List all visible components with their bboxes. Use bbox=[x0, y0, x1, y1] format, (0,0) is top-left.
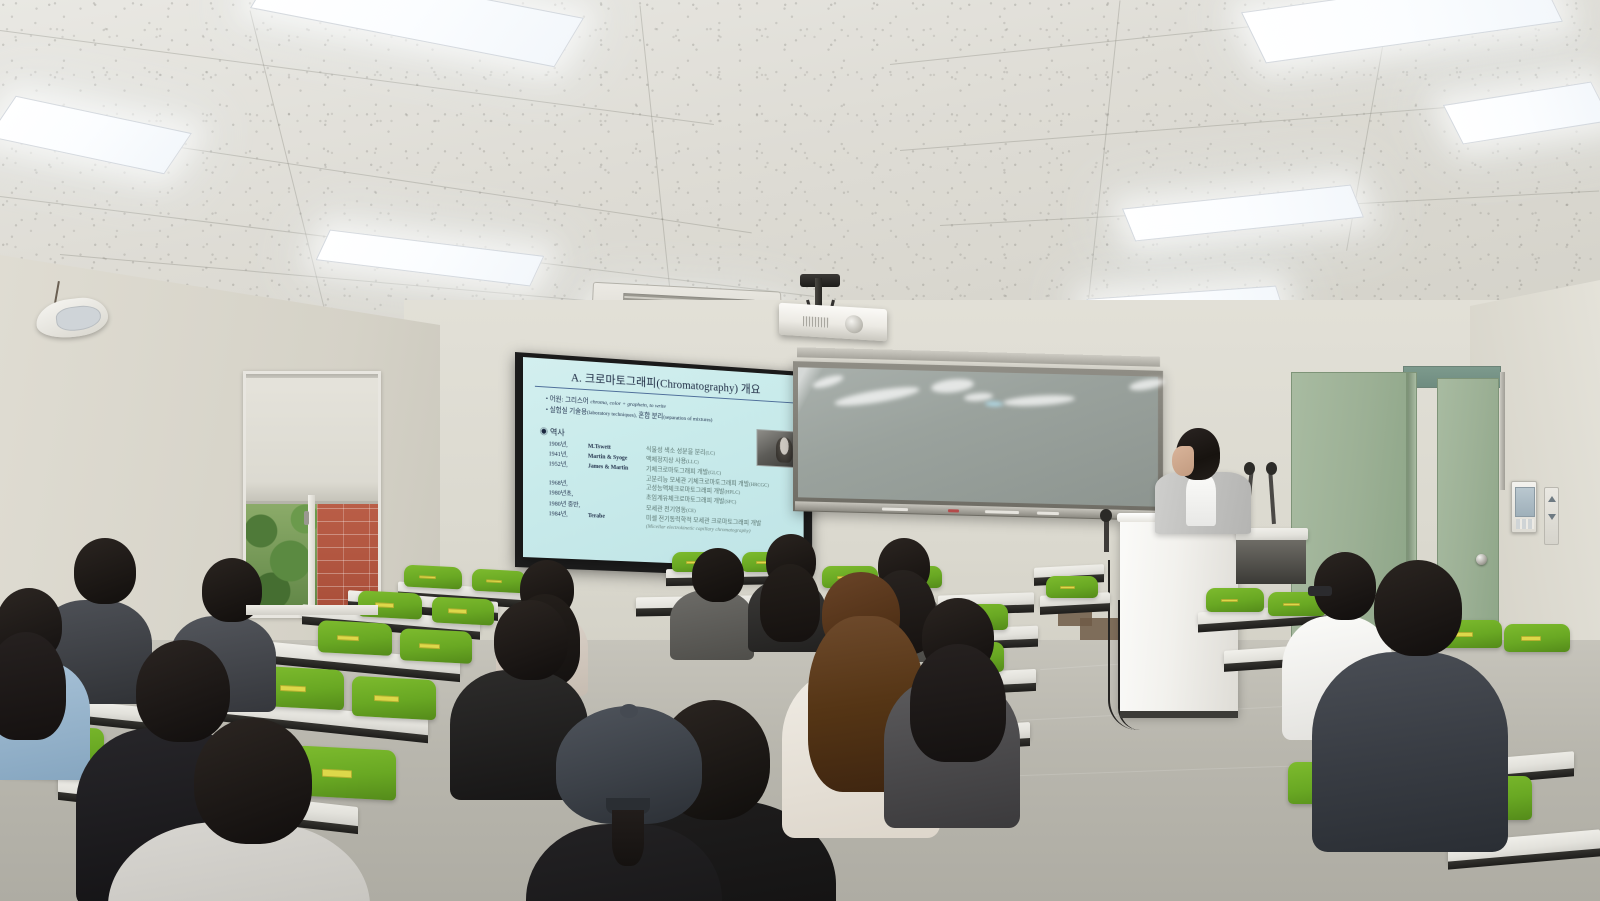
window-mullion bbox=[308, 495, 315, 616]
cap-button bbox=[620, 704, 638, 718]
ponytail bbox=[612, 810, 644, 866]
window-sill bbox=[243, 605, 381, 616]
classroom-scene: A. 크로마토그래피(Chromatography) 개요 • 어원: 그리스어… bbox=[0, 0, 1600, 901]
eyeglasses-icon bbox=[1308, 586, 1332, 596]
window-handle[interactable] bbox=[304, 511, 309, 525]
audience-layer bbox=[0, 0, 1600, 901]
window-roller-blind[interactable] bbox=[246, 374, 378, 504]
